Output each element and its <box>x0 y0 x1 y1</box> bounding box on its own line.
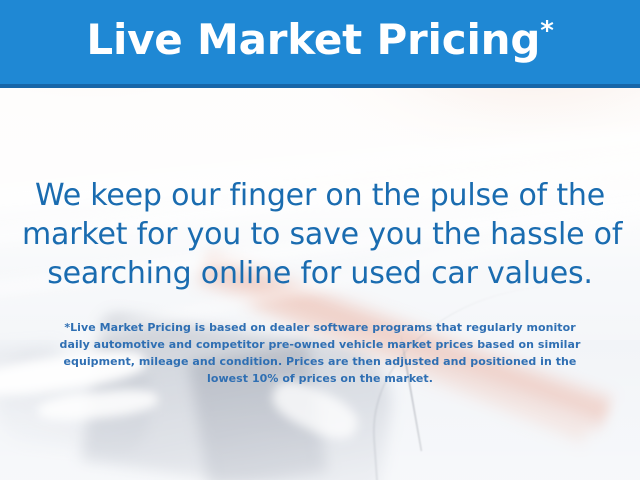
headline-line-3: searching online for used car values. <box>22 254 618 293</box>
disclaimer-block: *Live Market Pricing is based on dealer … <box>0 319 640 387</box>
live-market-pricing-slide: Live Market Pricing* We keep our finger … <box>0 0 640 480</box>
banner-title-asterisk: * <box>540 16 553 46</box>
headline-block: We keep our finger on the pulse of the m… <box>0 176 640 293</box>
banner-title-text: Live Market Pricing <box>86 15 540 64</box>
disclaimer-line-4: lowest 10% of prices on the market. <box>24 370 616 387</box>
banner-title: Live Market Pricing* <box>86 19 553 61</box>
headline-line-2: market for you to save you the hassle of <box>22 215 618 254</box>
header-banner: Live Market Pricing* <box>0 0 640 88</box>
headline-line-1: We keep our finger on the pulse of the <box>22 176 618 215</box>
disclaimer-line-2: daily automotive and competitor pre-owne… <box>24 336 616 353</box>
disclaimer-line-1: *Live Market Pricing is based on dealer … <box>24 319 616 336</box>
disclaimer-line-3: equipment, mileage and condition. Prices… <box>24 353 616 370</box>
